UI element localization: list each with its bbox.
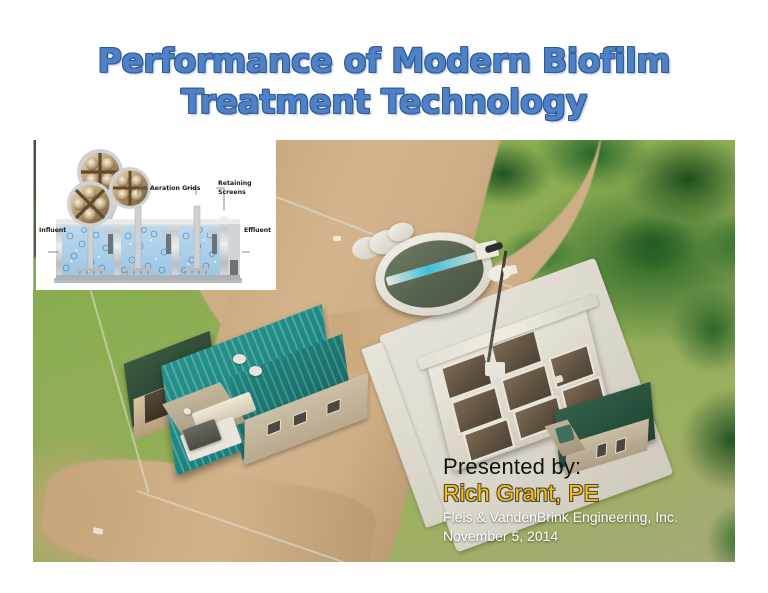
- presenter-name: Rich Grant, PE: [443, 481, 678, 505]
- building-window: [267, 419, 281, 436]
- presenter-company: Fleis & VandenBrink Engineering, Inc.: [443, 510, 678, 525]
- building-window: [615, 437, 626, 454]
- presented-by-label: Presented by:: [443, 455, 678, 478]
- diagram-label-influent: Influent: [39, 227, 66, 234]
- diagram-label-retaining-screens-1: Retaining: [218, 180, 252, 187]
- diagram-label-aeration-grids: Aeration Grids: [150, 185, 201, 192]
- presenter-block: Presented by: Rich Grant, PE Fleis & Van…: [443, 455, 678, 543]
- title-line-2: Treatment Technology: [0, 81, 768, 122]
- ground-object: [333, 236, 341, 241]
- building-window: [326, 398, 340, 415]
- diagram-label-retaining-screens-2: Screens: [218, 189, 246, 196]
- roof-vent-icon: [233, 354, 246, 364]
- diagram-label-effluent: Effluent: [244, 227, 271, 234]
- mbbr-process-diagram: Influent Aeration Grids Retaining Screen…: [36, 140, 276, 290]
- slide-title: Performance of Modern Biofilm Treatment …: [0, 40, 768, 122]
- roof-vent-icon: [249, 366, 262, 376]
- building-window: [293, 410, 307, 427]
- title-line-1: Performance of Modern Biofilm: [0, 40, 768, 81]
- presentation-date: November 5, 2014: [443, 529, 678, 544]
- inset-divider-rule: [33, 140, 34, 290]
- mbbr-diagram-svg: Influent Aeration Grids Retaining Screen…: [36, 140, 276, 290]
- light-pole-base: [485, 362, 505, 376]
